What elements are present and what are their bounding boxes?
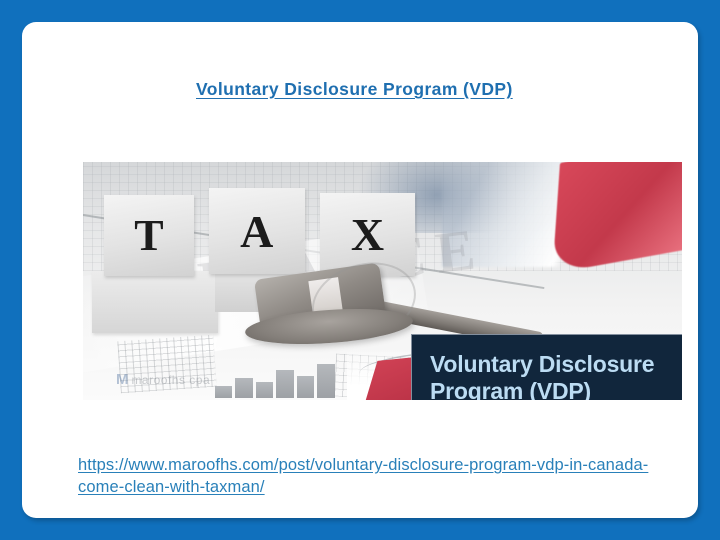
page-title: Voluntary Disclosure Program (VDP): [196, 79, 513, 100]
vdp-overlay-panel: Voluntary Disclosure Program (VDP) A qui…: [411, 334, 682, 400]
maroofhs-logo-icon: Μ: [116, 371, 128, 388]
photo-watermark: Μ maroofhs cpa: [116, 371, 210, 388]
slide-card: Voluntary Disclosure Program (VDP) FINAN…: [22, 22, 698, 518]
source-url-link[interactable]: https://www.maroofhs.com/post/voluntary-…: [78, 454, 678, 499]
letter-block-t: T: [104, 195, 194, 276]
letter-block-a: A: [209, 188, 305, 274]
watermark-label: maroofhs cpa: [131, 373, 210, 387]
photo-scene: FINANCE T A X: [83, 162, 682, 400]
block-plinth: [92, 271, 218, 333]
chart-bars: [215, 360, 335, 398]
overlay-heading: Voluntary Disclosure Program (VDP): [430, 351, 682, 400]
vdp-cover-image: FINANCE T A X: [83, 162, 682, 400]
